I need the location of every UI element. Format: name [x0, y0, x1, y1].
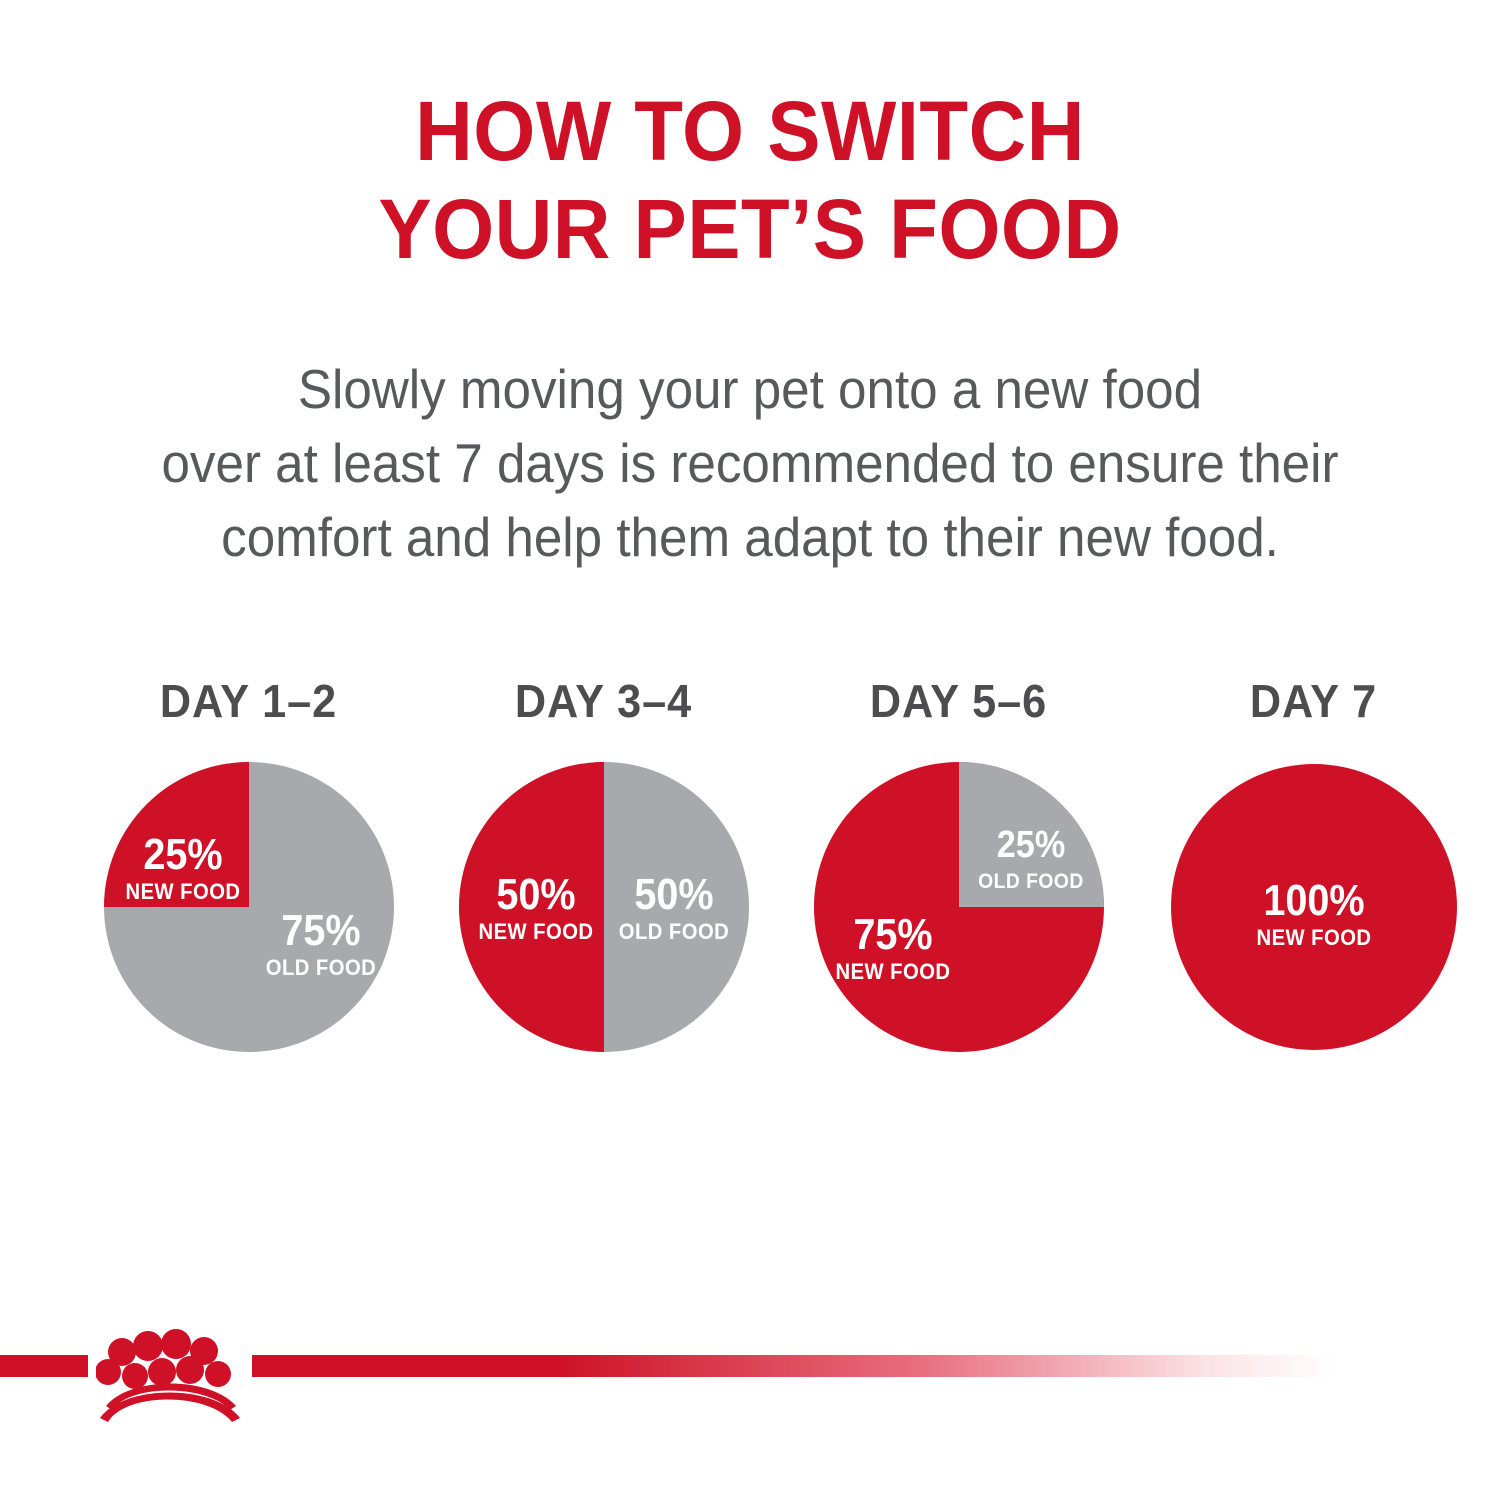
- pie-chart-1: 25% NEW FOOD 75% OLD FOOD: [104, 762, 394, 1052]
- day-label-2: DAY 3–4: [441, 676, 765, 726]
- pie-chart-row: DAY 1–2 25% NEW FOOD 75% OLD FOOD DAY 3–…: [0, 676, 1500, 1052]
- pie-svg-4: [1169, 762, 1459, 1052]
- footer-brand-band: [0, 1300, 1500, 1500]
- intro-line-3: comfort and help them adapt to their new…: [53, 500, 1448, 574]
- pie-svg-1: [104, 762, 394, 1052]
- pie-slice-new-food-1: [104, 762, 249, 907]
- intro-paragraph: Slowly moving your pet onto a new food o…: [0, 352, 1500, 574]
- pie-group-day-1-2: DAY 1–2 25% NEW FOOD 75% OLD FOOD: [76, 676, 421, 1052]
- pie-slice-old-food-3: [959, 762, 1104, 907]
- intro-line-2: over at least 7 days is recommended to e…: [53, 426, 1448, 500]
- intro-line-1: Slowly moving your pet onto a new food: [53, 352, 1448, 426]
- title-line-1: HOW TO SWITCH: [38, 82, 1463, 180]
- pie-group-day-3-4: DAY 3–4 50% NEW FOOD 50% OLD FOOD: [431, 676, 776, 1052]
- pie-chart-2: 50% NEW FOOD 50% OLD FOOD: [459, 762, 749, 1052]
- pie-slice-new-food-4: [1171, 764, 1457, 1050]
- pie-group-day-7: DAY 7 100% NEW FOOD: [1141, 676, 1486, 1052]
- day-label-3: DAY 5–6: [796, 676, 1120, 726]
- brand-bar-left-segment: [0, 1355, 88, 1377]
- pie-svg-2: [459, 762, 749, 1052]
- pie-chart-4: 100% NEW FOOD: [1169, 762, 1459, 1052]
- pie-svg-3: [814, 762, 1104, 1052]
- pie-slice-new-food-2: [459, 762, 604, 1052]
- pie-group-day-5-6: DAY 5–6 25% OLD FOOD 75% NEW FOOD: [786, 676, 1131, 1052]
- day-label-1: DAY 1–2: [86, 676, 410, 726]
- brand-bar-right-segment: [252, 1355, 1337, 1377]
- day-label-4: DAY 7: [1151, 676, 1475, 726]
- royal-canin-crown-icon: [96, 1318, 246, 1422]
- title-line-2: YOUR PET’S FOOD: [38, 180, 1463, 278]
- pie-chart-3: 25% OLD FOOD 75% NEW FOOD: [814, 762, 1104, 1052]
- page-title: HOW TO SWITCH YOUR PET’S FOOD: [0, 82, 1500, 278]
- infographic-page: HOW TO SWITCH YOUR PET’S FOOD Slowly mov…: [0, 0, 1500, 1500]
